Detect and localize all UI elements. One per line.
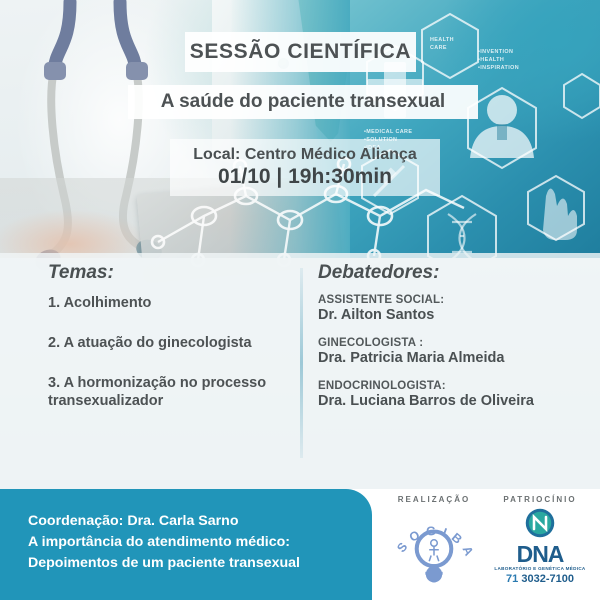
phone-number: 3032-7100	[521, 573, 574, 585]
panelists-column: Debatedores: ASSISTENTE SOCIAL: Dr. Ailt…	[318, 262, 568, 409]
event-details-box: Local: Centro Médico Aliança 01/10 | 19h…	[170, 139, 440, 196]
list-item: 3. A hormonização no processo transexual…	[48, 374, 298, 410]
dna-tagline: LABORATÓRIO E GENÉTICA MÉDICA	[484, 566, 596, 571]
headline-box: SESSÃO CIENTÍFICA	[185, 32, 416, 72]
sponsor-phone: 71 3032-7100	[484, 573, 596, 585]
poster-subtitle: A saúde do paciente transexual	[161, 91, 445, 113]
panelist-role: GINECOLOGISTA :	[318, 337, 568, 349]
footer-line: Coordenação: Dra. Carla Sarno	[28, 511, 358, 532]
dna-helix-badge-icon	[525, 508, 555, 538]
footer-line: Depoimentos de um paciente transexual	[28, 553, 358, 574]
column-divider	[300, 268, 303, 458]
subtitle-box: A saúde do paciente transexual	[128, 85, 478, 119]
dna-wordmark: DNA	[484, 543, 596, 566]
hex-label-list-1: •INVENTION •HEALTH •INSPIRATION	[478, 48, 519, 72]
panelists-heading: Debatedores:	[318, 262, 568, 284]
panelist-name: Dr. Ailton Santos	[318, 307, 568, 323]
sogiba-logo-icon: SOGIBA	[386, 504, 482, 584]
organizer-block: REALIZAÇÃO SOGIBA	[384, 495, 484, 589]
credits-logos: REALIZAÇÃO SOGIBA	[376, 495, 600, 600]
list-item: 1. Acolhimento	[48, 294, 298, 312]
phone-area-code: 71	[506, 573, 518, 585]
page-title: SESSÃO CIENTÍFICA	[190, 40, 411, 64]
panelist-role: ENDOCRINOLOGISTA:	[318, 380, 568, 392]
dna-logo: DNA LABORATÓRIO E GENÉTICA MÉDICA 71 303…	[484, 508, 596, 585]
footer-text-block: Coordenação: Dra. Carla Sarno A importân…	[28, 511, 358, 574]
panelist-role: ASSISTENTE SOCIAL:	[318, 294, 568, 306]
venue-text: Local: Centro Médico Aliança	[193, 146, 416, 164]
themes-heading: Temas:	[48, 262, 298, 284]
panelist-name: Dra. Luciana Barros de Oliveira	[318, 393, 568, 409]
themes-column: Temas: 1. Acolhimento 2. A atuação do gi…	[48, 262, 298, 411]
sponsor-block: PATRIOCÍNIO DNA LABORATÓRIO E GENÉTICA M…	[484, 495, 596, 585]
panelist-name: Dra. Patricia Maria Almeida	[318, 350, 568, 366]
hex-label-health-care: HEALTH CARE	[430, 36, 454, 52]
footer-line: A importância do atendimento médico:	[28, 532, 358, 553]
organizer-caption: REALIZAÇÃO	[384, 495, 484, 504]
sponsor-caption: PATRIOCÍNIO	[484, 495, 596, 504]
datetime-text: 01/10 | 19h:30min	[218, 165, 392, 189]
list-item: 2. A atuação do ginecologista	[48, 334, 298, 352]
poster-canvas: HEALTH CARE •INVENTION •HEALTH •INSPIRAT…	[0, 0, 600, 600]
